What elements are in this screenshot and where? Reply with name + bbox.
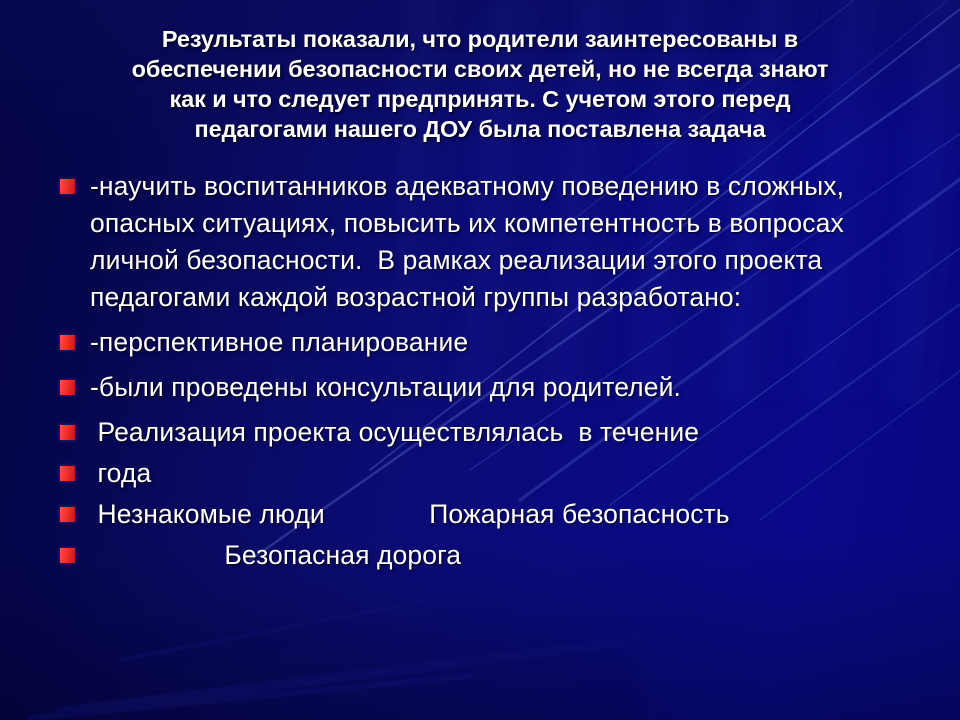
- list-item-label: Реализация проекта осуществлялась в тече…: [90, 414, 699, 451]
- slide-title: Результаты показали, что родители заинте…: [48, 24, 912, 144]
- presentation-slide: Результаты показали, что родители заинте…: [0, 0, 960, 720]
- list-item[interactable]: -научить воспитанников адекватному повед…: [0, 168, 960, 316]
- square-bullet-icon: [60, 380, 75, 395]
- square-bullet-icon: [60, 179, 75, 194]
- list-item[interactable]: -перспективное планирование: [0, 324, 960, 361]
- list-item-label: Безопасная дорога: [90, 537, 461, 574]
- square-bullet-icon: [60, 466, 75, 481]
- square-bullet-icon: [60, 548, 75, 563]
- list-item[interactable]: Реализация проекта осуществлялась в тече…: [0, 414, 960, 451]
- list-item[interactable]: года: [0, 455, 960, 492]
- slide-bullet-list: -научить воспитанников адекватному повед…: [0, 168, 960, 578]
- list-item-label: -были проведены консультации для родител…: [90, 369, 681, 406]
- list-item-label: Незнакомые люди Пожарная безопасность: [90, 496, 730, 533]
- list-item-label: -научить воспитанников адекватному повед…: [90, 168, 930, 316]
- list-item-label: -перспективное планирование: [90, 324, 468, 361]
- square-bullet-icon: [60, 425, 75, 440]
- square-bullet-icon: [60, 335, 75, 350]
- list-item[interactable]: -были проведены консультации для родител…: [0, 369, 960, 406]
- list-item[interactable]: Безопасная дорога: [0, 537, 960, 574]
- square-bullet-icon: [60, 507, 75, 522]
- list-item-label: года: [90, 455, 151, 492]
- list-item[interactable]: Незнакомые люди Пожарная безопасность: [0, 496, 960, 533]
